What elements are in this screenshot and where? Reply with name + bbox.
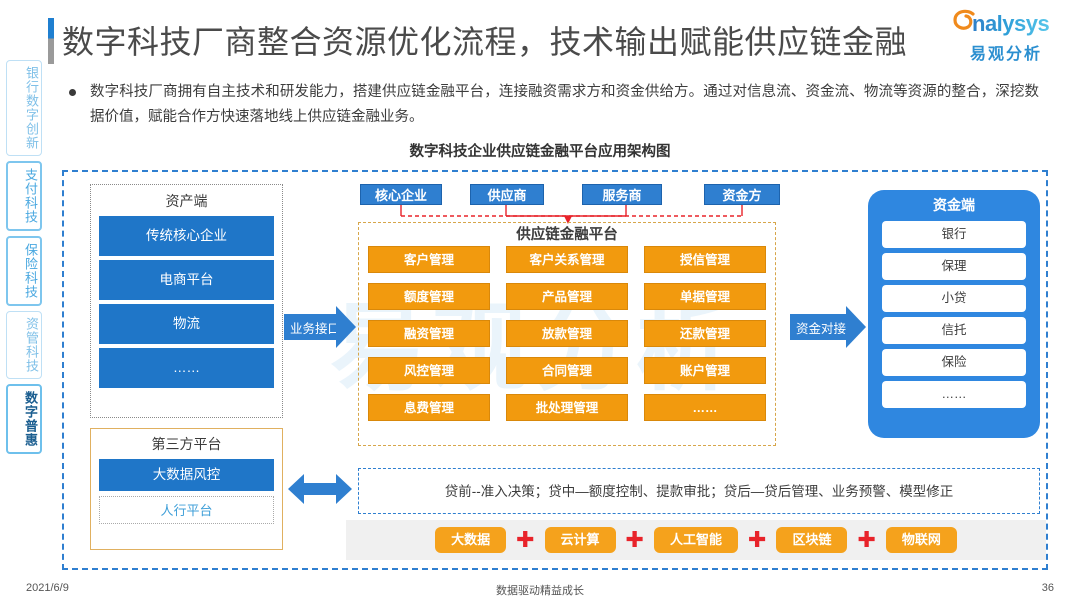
module-cell[interactable]: 批处理管理: [506, 394, 628, 421]
logo-chinese: 易观分析: [946, 40, 1066, 64]
footer-slogan: 数据驱动精益成长: [0, 582, 1080, 598]
role-service-provider[interactable]: 服务商: [582, 184, 662, 205]
sidebar-item-payment[interactable]: 支付科技: [6, 161, 42, 231]
module-cell[interactable]: 融资管理: [368, 320, 490, 347]
tech-bigdata[interactable]: 大数据: [435, 527, 506, 553]
analysys-logo: nalysys 易观分析: [946, 10, 1066, 62]
asset-side-title: 资产端: [99, 190, 274, 212]
bullet-dot-icon: [64, 80, 90, 130]
business-interface-label: 业务接口: [284, 314, 336, 340]
fund-docking-arrow: 资金对接: [790, 306, 866, 348]
fund-item-insurance[interactable]: 保险: [882, 349, 1026, 376]
third-party-title: 第三方平台: [99, 433, 274, 455]
fund-item-bank[interactable]: 银行: [882, 221, 1026, 248]
sidebar-item-inclusive-finance[interactable]: 数字普惠: [6, 384, 42, 454]
module-cell[interactable]: 产品管理: [506, 283, 628, 310]
tech-iot[interactable]: 物联网: [886, 527, 957, 553]
fund-side-title: 资金端: [882, 194, 1026, 216]
asset-item-core-enterprise[interactable]: 传统核心企业: [99, 216, 274, 256]
plus-icon: ✚: [516, 529, 534, 551]
module-cell[interactable]: 单据管理: [644, 283, 766, 310]
bullet-text: 数字科技厂商拥有自主技术和研发能力，搭建供应链金融平台，连接融资需求方和资金供给…: [90, 80, 1039, 130]
module-cell[interactable]: 合同管理: [506, 357, 628, 384]
fund-item-more[interactable]: ……: [882, 381, 1026, 408]
module-cell[interactable]: 账户管理: [644, 357, 766, 384]
third-party-pboc-platform[interactable]: 人行平台: [99, 496, 274, 524]
role-funder[interactable]: 资金方: [704, 184, 780, 205]
bidirectional-arrow-icon: [288, 470, 352, 508]
module-cell[interactable]: 额度管理: [368, 283, 490, 310]
module-cell[interactable]: 放款管理: [506, 320, 628, 347]
fund-side-panel: 资金端 银行 保理 小贷 信托 保险 ……: [868, 190, 1040, 438]
plus-icon: ✚: [748, 529, 766, 551]
sidebar-item-asset-mgmt[interactable]: 资管科技: [6, 311, 42, 379]
sidebar: 银行数字创新 支付科技 保险科技 资管科技 数字普惠: [6, 60, 42, 459]
slide-root: 数字科技厂商整合资源优化流程，技术输出赋能供应链金融 nalysys 易观分析 …: [0, 0, 1080, 608]
platform-module-grid: 客户管理 客户关系管理 授信管理 额度管理 产品管理 单据管理 融资管理 放款管…: [368, 246, 766, 421]
title-accent-bar: [48, 18, 54, 64]
plus-icon: ✚: [857, 529, 875, 551]
role-supplier[interactable]: 供应商: [470, 184, 544, 205]
tech-ai[interactable]: 人工智能: [654, 527, 738, 553]
technology-band: 大数据 ✚ 云计算 ✚ 人工智能 ✚ 区块链 ✚ 物联网: [346, 520, 1046, 560]
module-cell[interactable]: 客户管理: [368, 246, 490, 273]
footer-page-number: 36: [1042, 582, 1054, 594]
module-cell[interactable]: 息费管理: [368, 394, 490, 421]
module-cell[interactable]: 还款管理: [644, 320, 766, 347]
footer: 2021/6/9 数据驱动精益成长 36: [0, 582, 1080, 600]
module-cell[interactable]: 授信管理: [644, 246, 766, 273]
fund-item-microloan[interactable]: 小贷: [882, 285, 1026, 312]
asset-side-panel: 资产端 传统核心企业 电商平台 物流 ……: [90, 184, 283, 418]
loan-lifecycle-band: 贷前--准入决策；贷中—额度控制、提款审批；贷后—贷后管理、业务预警、模型修正: [358, 468, 1040, 514]
tech-blockchain[interactable]: 区块链: [776, 527, 847, 553]
logo-wordmark: nalysys: [972, 11, 1049, 37]
module-cell[interactable]: 风控管理: [368, 357, 490, 384]
fund-docking-label: 资金对接: [790, 314, 846, 340]
page-title: 数字科技厂商整合资源优化流程，技术输出赋能供应链金融: [62, 18, 922, 66]
third-party-bigdata-risk[interactable]: 大数据风控: [99, 459, 274, 491]
logo-mark: nalysys: [946, 10, 1066, 38]
role-core-enterprise[interactable]: 核心企业: [360, 184, 442, 205]
fund-item-trust[interactable]: 信托: [882, 317, 1026, 344]
module-cell[interactable]: 客户关系管理: [506, 246, 628, 273]
tech-cloud[interactable]: 云计算: [545, 527, 616, 553]
diagram-sub-title: 数字科技企业供应链金融平台应用架构图: [0, 140, 1080, 161]
asset-item-logistics[interactable]: 物流: [99, 304, 274, 344]
fund-item-factoring[interactable]: 保理: [882, 253, 1026, 280]
module-cell[interactable]: ……: [644, 394, 766, 421]
sidebar-item-insurance[interactable]: 保险科技: [6, 236, 42, 306]
bullet-paragraph: 数字科技厂商拥有自主技术和研发能力，搭建供应链金融平台，连接融资需求方和资金供给…: [64, 80, 1039, 130]
asset-item-more[interactable]: ……: [99, 348, 274, 388]
plus-icon: ✚: [626, 529, 644, 551]
asset-item-ecommerce[interactable]: 电商平台: [99, 260, 274, 300]
platform-title: 供应链金融平台: [359, 224, 775, 246]
business-interface-arrow: 业务接口: [284, 306, 356, 348]
third-party-panel: 第三方平台 大数据风控 人行平台: [90, 428, 283, 550]
